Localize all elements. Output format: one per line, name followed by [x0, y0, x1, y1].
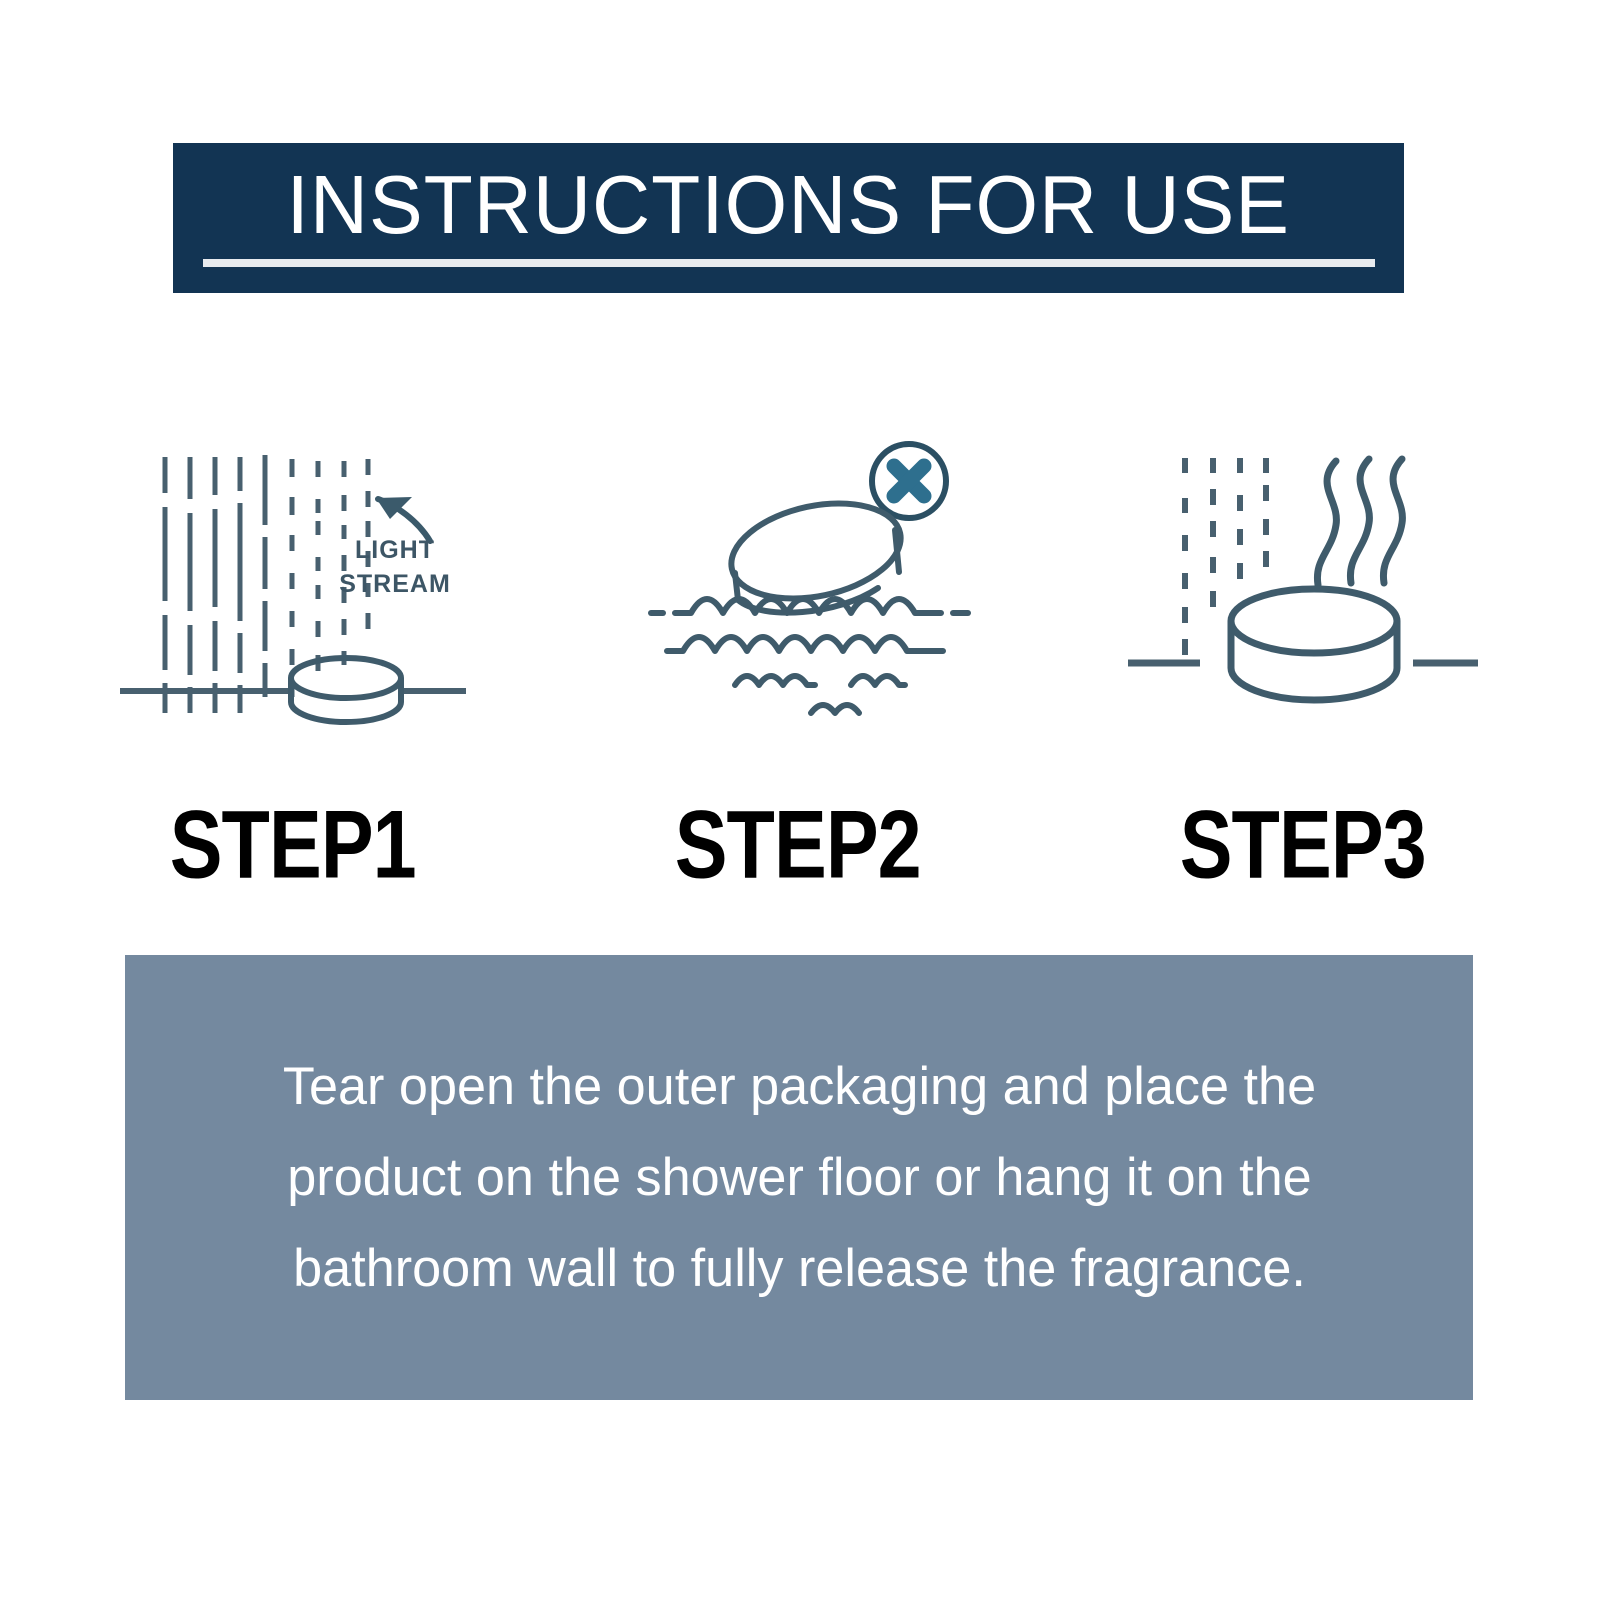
step-2-label: STEP2	[675, 797, 921, 893]
step-item-1: LIGHT STREAM STEP1	[118, 425, 468, 895]
instructions-header-banner: INSTRUCTIONS FOR USE	[173, 143, 1404, 293]
description-text: Tear open the outer packaging and place …	[220, 1041, 1377, 1314]
step-1-illustration: LIGHT STREAM	[118, 425, 468, 720]
light-stream-label-line1: LIGHT	[355, 536, 435, 564]
step-item-3: STEP3	[1128, 425, 1478, 895]
header-underline-rule	[203, 259, 1375, 267]
light-stream-label-line2: STREAM	[339, 570, 451, 598]
curved-arrow-icon	[376, 497, 430, 541]
steam-wave-icon	[1317, 459, 1402, 585]
puck-cylinder-icon	[291, 658, 401, 722]
puck-in-water-prohibited-icon	[623, 425, 973, 720]
step-3-label: STEP3	[1180, 797, 1426, 893]
step-item-2: STEP2	[623, 425, 973, 895]
x-circle-icon	[872, 444, 946, 518]
description-panel: Tear open the outer packaging and place …	[125, 955, 1473, 1400]
steps-row: LIGHT STREAM STEP1	[118, 425, 1478, 895]
step-3-illustration	[1128, 425, 1478, 720]
puck-cylinder-icon	[1231, 589, 1397, 700]
water-waves-icon	[651, 599, 968, 713]
step-2-illustration	[623, 425, 973, 720]
rain-dashes-icon	[165, 455, 265, 713]
steam-rising-from-puck-icon	[1128, 425, 1478, 720]
page-title: INSTRUCTIONS FOR USE	[287, 160, 1290, 250]
step-1-label: STEP1	[170, 797, 416, 893]
shower-stream-with-puck-icon: LIGHT STREAM	[118, 425, 468, 720]
rain-dots-icon	[1185, 458, 1266, 655]
